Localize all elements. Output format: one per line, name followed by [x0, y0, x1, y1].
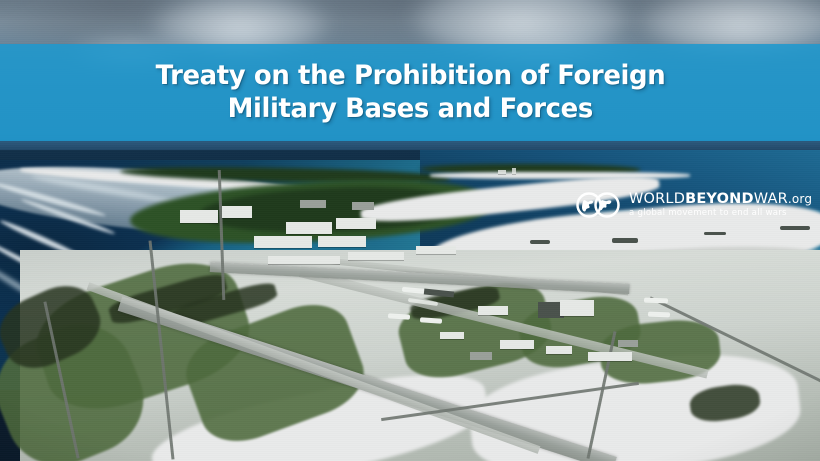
far-structure-1 — [498, 170, 506, 174]
building-row-1 — [268, 256, 340, 264]
page-title-line-2: Military Bases and Forces — [227, 95, 592, 124]
logo-word-world: WORLD — [629, 191, 685, 207]
vessel-2 — [704, 232, 726, 235]
aircraft-5 — [648, 312, 670, 318]
title-banner: Treaty on the Prohibition of Foreign Mil… — [0, 44, 820, 141]
building-east-6 — [618, 340, 638, 347]
banner-image: Treaty on the Prohibition of Foreign Mil… — [0, 0, 820, 461]
building-row-3 — [416, 246, 456, 254]
hangar-1 — [180, 210, 218, 223]
warehouse-1 — [286, 222, 332, 234]
vessel-1 — [780, 226, 810, 230]
logo-tagline: a global movement to end all wars — [629, 209, 812, 218]
page-title-line-1: Treaty on the Prohibition of Foreign — [155, 62, 665, 91]
building-east-2 — [500, 340, 534, 349]
building-east-5 — [470, 352, 492, 360]
depot-1 — [300, 200, 326, 208]
warehouse-3 — [254, 236, 312, 248]
far-structure-2 — [512, 168, 516, 174]
hangar-2 — [222, 206, 252, 218]
building-east-4 — [588, 352, 632, 361]
logo-text-block: WORLDBEYONDWAR.org a global movement to … — [629, 192, 812, 218]
building-east-3 — [546, 346, 572, 354]
depot-2 — [352, 202, 374, 210]
logo-word-war: WAR — [754, 191, 788, 207]
aircraft-4 — [644, 298, 668, 304]
two-interlocking-globes-icon — [575, 190, 621, 220]
vessel-3 — [612, 238, 638, 243]
hangar-3 — [560, 300, 594, 316]
warehouse-2 — [336, 218, 376, 229]
building-row-2 — [348, 252, 404, 260]
building-east-1 — [478, 306, 508, 315]
logo-wordmark: WORLDBEYONDWAR.org — [629, 192, 812, 207]
vessel-4 — [530, 240, 550, 244]
building-east-7 — [440, 332, 464, 339]
world-beyond-war-logo[interactable]: WORLDBEYONDWAR.org a global movement to … — [575, 190, 812, 220]
logo-word-beyond: BEYOND — [685, 191, 754, 207]
logo-word-tld: .org — [788, 192, 812, 206]
warehouse-4 — [318, 236, 366, 247]
